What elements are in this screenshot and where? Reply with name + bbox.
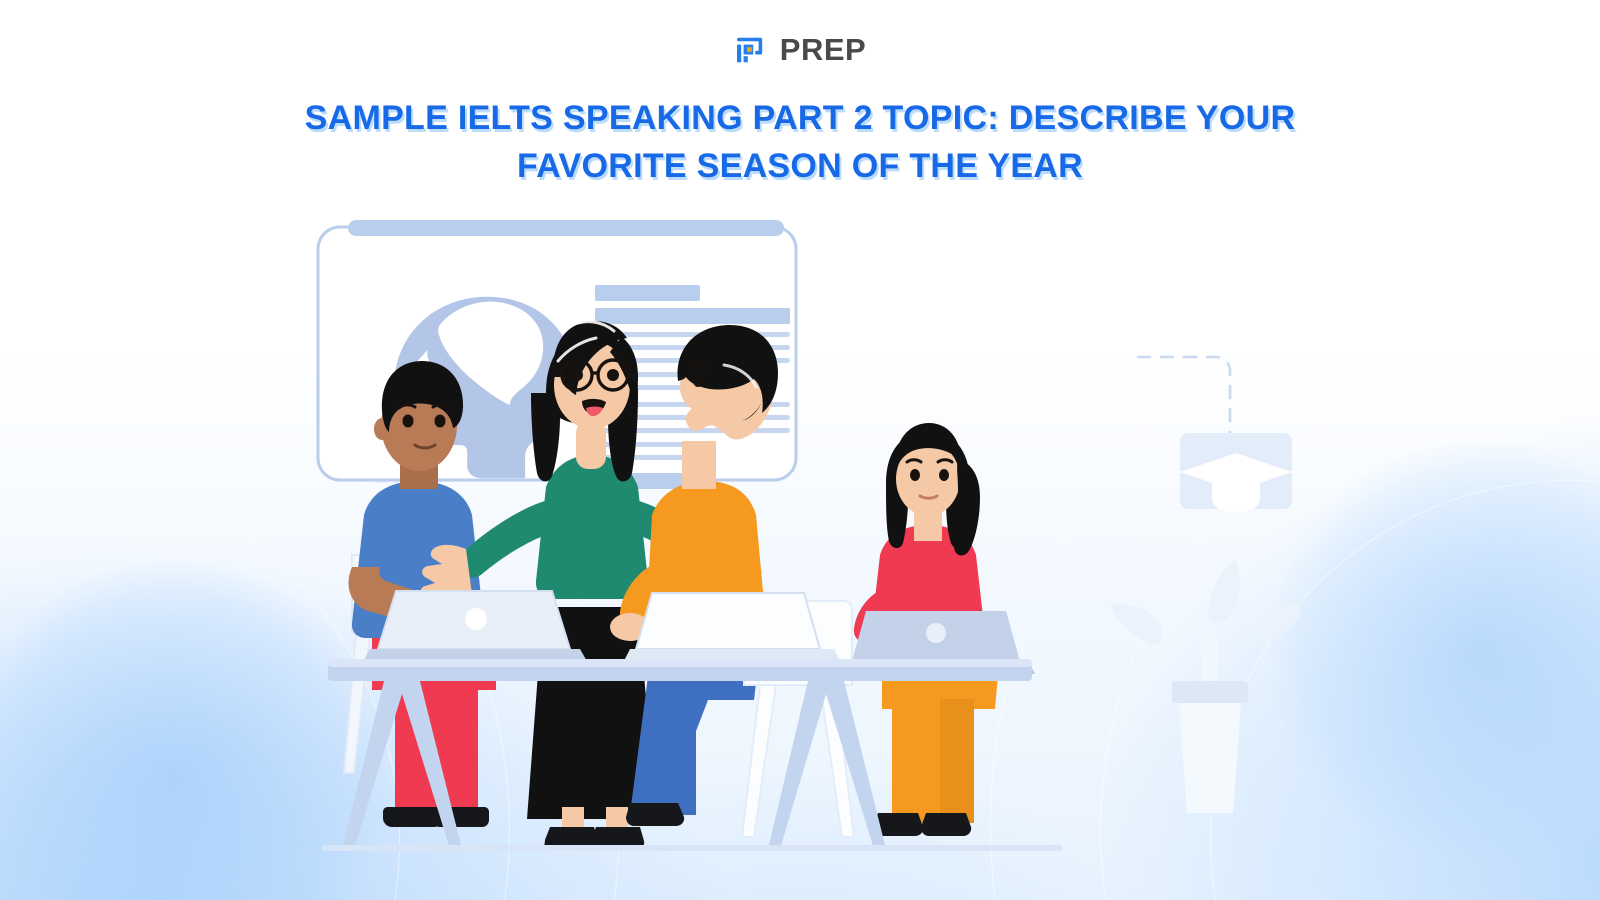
graduation-cap-icon xyxy=(1180,433,1292,512)
brand-logo[interactable]: PREP xyxy=(0,0,1600,68)
whiteboard-top-bar xyxy=(348,220,784,236)
ponytail xyxy=(954,459,980,555)
shoe xyxy=(921,813,971,836)
page-header: PREP SAMPLE IELTS SPEAKING PART 2 TOPIC:… xyxy=(0,0,1600,191)
brand-name: PREP xyxy=(780,32,866,68)
laptop-left xyxy=(362,591,588,663)
prep-logo-icon xyxy=(734,32,770,68)
floor-line xyxy=(322,845,1062,851)
classroom-lesson-illustration xyxy=(300,215,1300,855)
shoe xyxy=(626,803,684,826)
potted-plant-icon xyxy=(1111,560,1300,813)
table-leg xyxy=(768,681,830,849)
page-title: SAMPLE IELTS SPEAKING PART 2 TOPIC: DESC… xyxy=(240,94,1360,191)
